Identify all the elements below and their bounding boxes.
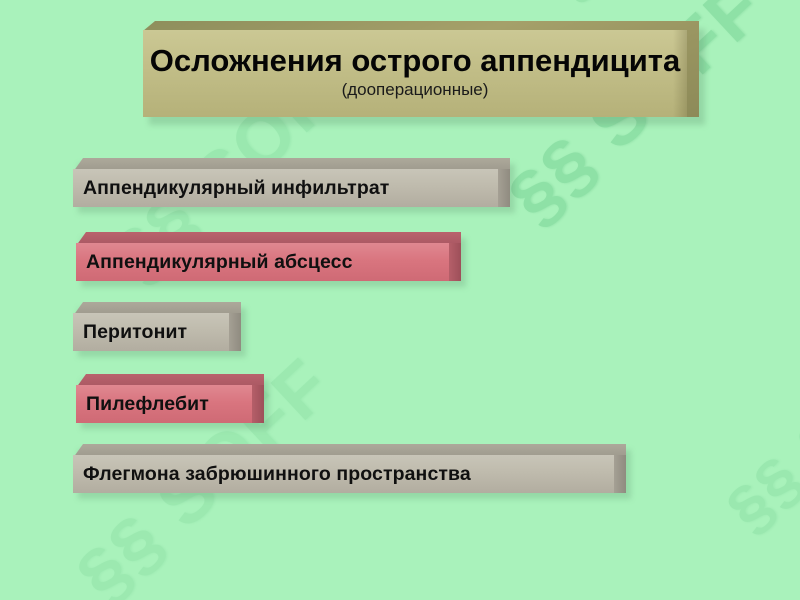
row-side-face	[498, 169, 510, 207]
list-item-pylephlebitis: Пилефлебит	[76, 374, 264, 423]
page-subtitle: (дооперационные)	[342, 81, 489, 100]
row-front-face: Аппендикулярный инфильтрат	[73, 169, 498, 207]
row-front-face: Перитонит	[73, 313, 229, 351]
watermark-soff-bottom-right: §§ SOFF	[712, 305, 800, 546]
list-item-label: Флегмона забрюшинного пространства	[83, 463, 471, 486]
row-side-face	[449, 243, 461, 281]
row-front-face: Пилефлебит	[76, 385, 252, 423]
list-item-peritonitis: Перитонит	[73, 302, 241, 351]
row-front-face: Аппендикулярный абсцесс	[76, 243, 449, 281]
list-item-label: Аппендикулярный инфильтрат	[83, 177, 389, 200]
list-item-appendicular-abscess: Аппендикулярный абсцесс	[76, 232, 461, 281]
row-side-face	[252, 385, 264, 423]
row-side-face	[614, 455, 626, 493]
slide-canvas: §§ SOFF §§ SOFF §§ SOFF §§ SOFF §§ SOFF …	[0, 0, 800, 600]
row-side-face	[229, 313, 241, 351]
page-title: Осложнения острого аппендицита	[150, 45, 680, 78]
watermark-soff-top-right: §§ SOFF	[540, 0, 768, 13]
title-block: Осложнения острого аппендицита (дооперац…	[143, 21, 699, 117]
list-item-appendicular-infiltrate: Аппендикулярный инфильтрат	[73, 158, 510, 207]
row-front-face: Флегмона забрюшинного пространства	[73, 455, 614, 493]
list-item-label: Перитонит	[83, 321, 187, 344]
title-block-front-face: Осложнения острого аппендицита (дооперац…	[143, 30, 687, 117]
list-item-retroperitoneal-phlegmon: Флегмона забрюшинного пространства	[73, 444, 626, 493]
list-item-label: Аппендикулярный абсцесс	[86, 251, 353, 274]
list-item-label: Пилефлебит	[86, 393, 209, 416]
